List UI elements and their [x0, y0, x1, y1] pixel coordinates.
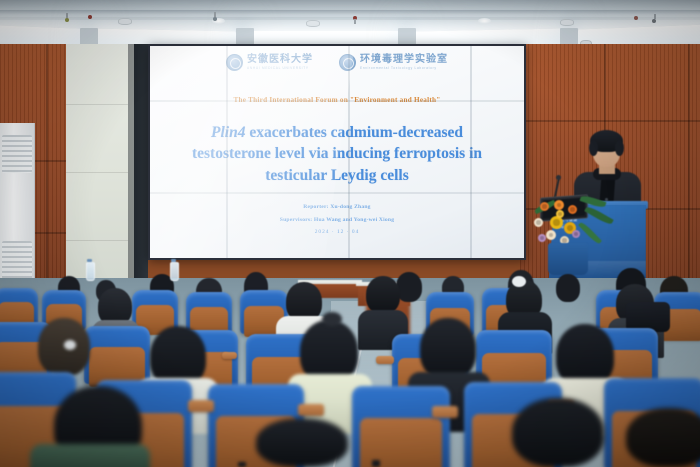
screen-tile-seam: [150, 100, 524, 102]
screen-tile-seam: [348, 46, 350, 258]
panel-seam: [66, 240, 128, 241]
hair-tie: [64, 340, 76, 350]
ceiling-downlight-icon: [478, 18, 491, 24]
water-bottle: [170, 262, 179, 281]
ac-vent-grill: [2, 135, 32, 173]
gerbera-bloom: [554, 200, 564, 210]
slide-title-line3: testicular Leydig cells: [164, 165, 510, 186]
slide-logo-row: 安徽医科大学 ANHUI MEDICAL UNIVERSITY 环境毒理学实验室…: [150, 54, 524, 71]
seat-leg: [372, 460, 380, 467]
audience-member: [256, 418, 348, 467]
ceiling-beam: [0, 10, 700, 15]
daisy-bloom: [556, 210, 564, 218]
screen-tile-seam: [470, 46, 472, 258]
wood-seam: [46, 44, 48, 284]
auditorium-seat: [84, 326, 150, 384]
sprinkler-icon: [634, 16, 638, 20]
acoustic-panel-left: [66, 44, 128, 284]
smoke-detector-icon: [560, 19, 574, 26]
seat-leg: [238, 462, 246, 467]
gene-name-italic: Plin4: [211, 124, 245, 141]
sprinkler-icon: [652, 19, 656, 23]
hair-bun: [322, 312, 342, 326]
smoke-detector-icon: [118, 18, 132, 25]
slide-title-line2: testosterone level via inducing ferropto…: [164, 143, 510, 164]
audience-member: [626, 408, 700, 467]
logo-cn-text: 安徽医科大学: [247, 55, 313, 65]
seat-armrest: [222, 352, 237, 359]
rose-bloom: [546, 230, 556, 240]
speaker-hair-side: [589, 140, 598, 156]
panel-edge: [128, 44, 134, 284]
seat-armrest: [188, 400, 214, 412]
ceiling-beam-secondary: [0, 17, 700, 20]
seat-armrest: [298, 404, 324, 416]
person-head: [366, 276, 400, 314]
slide-title-line1-rest: exacerbates cadmium-decreased: [245, 124, 463, 141]
flower-vase-wrap: [548, 243, 588, 275]
fern-leaf: [580, 194, 607, 209]
slide-credits: Reporter: Xu-dong Zhang Supervisors: Hua…: [150, 204, 524, 235]
screen-tile-seam: [226, 46, 228, 258]
water-bottle: [86, 262, 95, 281]
lavender-bloom: [572, 230, 580, 238]
bottle-cap: [87, 259, 92, 262]
auditorium-seat: [352, 386, 450, 467]
air-conditioner-unit: [0, 123, 35, 283]
fern-leaf: [578, 221, 602, 245]
ac-vent-grill: [2, 241, 32, 279]
projection-screen: 安徽医科大学 ANHUI MEDICAL UNIVERSITY 环境毒理学实验室…: [150, 46, 524, 258]
panel-seam: [66, 104, 128, 105]
person-head: [256, 418, 348, 467]
bottle-cap: [171, 259, 176, 262]
person-head: [420, 318, 476, 380]
university-seal-icon: [226, 54, 243, 71]
logo-environmental-toxicology-lab: 环境毒理学实验室 Environmental Toxicology Labora…: [339, 54, 448, 71]
panel-seam: [66, 172, 128, 173]
smoke-detector-icon: [306, 20, 320, 27]
sprinkler-icon: [88, 15, 92, 19]
conference-hall-photo: 安徽医科大学 ANHUI MEDICAL UNIVERSITY 环境毒理学实验室…: [0, 0, 700, 467]
sprinkler-stem: [354, 19, 356, 24]
slide-date: 2024 · 12 · 04: [150, 229, 524, 235]
microphone-icon: [556, 175, 561, 180]
gerbera-bloom: [568, 205, 577, 214]
logo-anhui-medical-university: 安徽医科大学 ANHUI MEDICAL UNIVERSITY: [226, 54, 313, 71]
person-head: [512, 398, 604, 467]
slide-title-line1: Plin4 exacerbates cadmium-decreased: [164, 122, 510, 143]
ceiling: [0, 0, 700, 46]
sprinkler-icon: [213, 17, 217, 21]
logo-en-text: Environmental Toxicology Laboratory: [360, 67, 448, 70]
slide-reporter: Reporter: Xu-dong Zhang: [150, 204, 524, 210]
person-scarf: [30, 444, 150, 467]
sunflower-bloom: [550, 216, 563, 229]
sprinkler-icon: [65, 18, 69, 22]
lavender-bloom: [538, 234, 546, 242]
audience-member: [420, 318, 476, 380]
hair-scrunchie: [512, 276, 526, 287]
gerbera-bloom: [540, 202, 549, 211]
audience-member: [512, 398, 604, 467]
fern-leaf: [584, 205, 613, 226]
screen-tile-seam: [150, 192, 524, 194]
logo-cn-text: 环境毒理学实验室: [360, 55, 448, 65]
speaker-hair-side: [615, 140, 624, 156]
rose-bloom: [534, 218, 543, 227]
wood-seam: [688, 44, 690, 284]
audience-member: [366, 276, 400, 314]
logo-en-text: ANHUI MEDICAL UNIVERSITY: [247, 67, 313, 70]
slide-supervisors: Supervisors: Hua Wang and Yong-wei Xiong: [150, 217, 524, 223]
slide-title: Plin4 exacerbates cadmium-decreased test…: [164, 122, 510, 186]
seat-armrest: [376, 356, 394, 364]
projection-screen-frame: 安徽医科大学 ANHUI MEDICAL UNIVERSITY 环境毒理学实验室…: [148, 44, 526, 260]
person-head: [556, 274, 580, 302]
seat-armrest: [432, 406, 458, 418]
person-head: [626, 408, 700, 467]
audience-member: [556, 274, 580, 302]
